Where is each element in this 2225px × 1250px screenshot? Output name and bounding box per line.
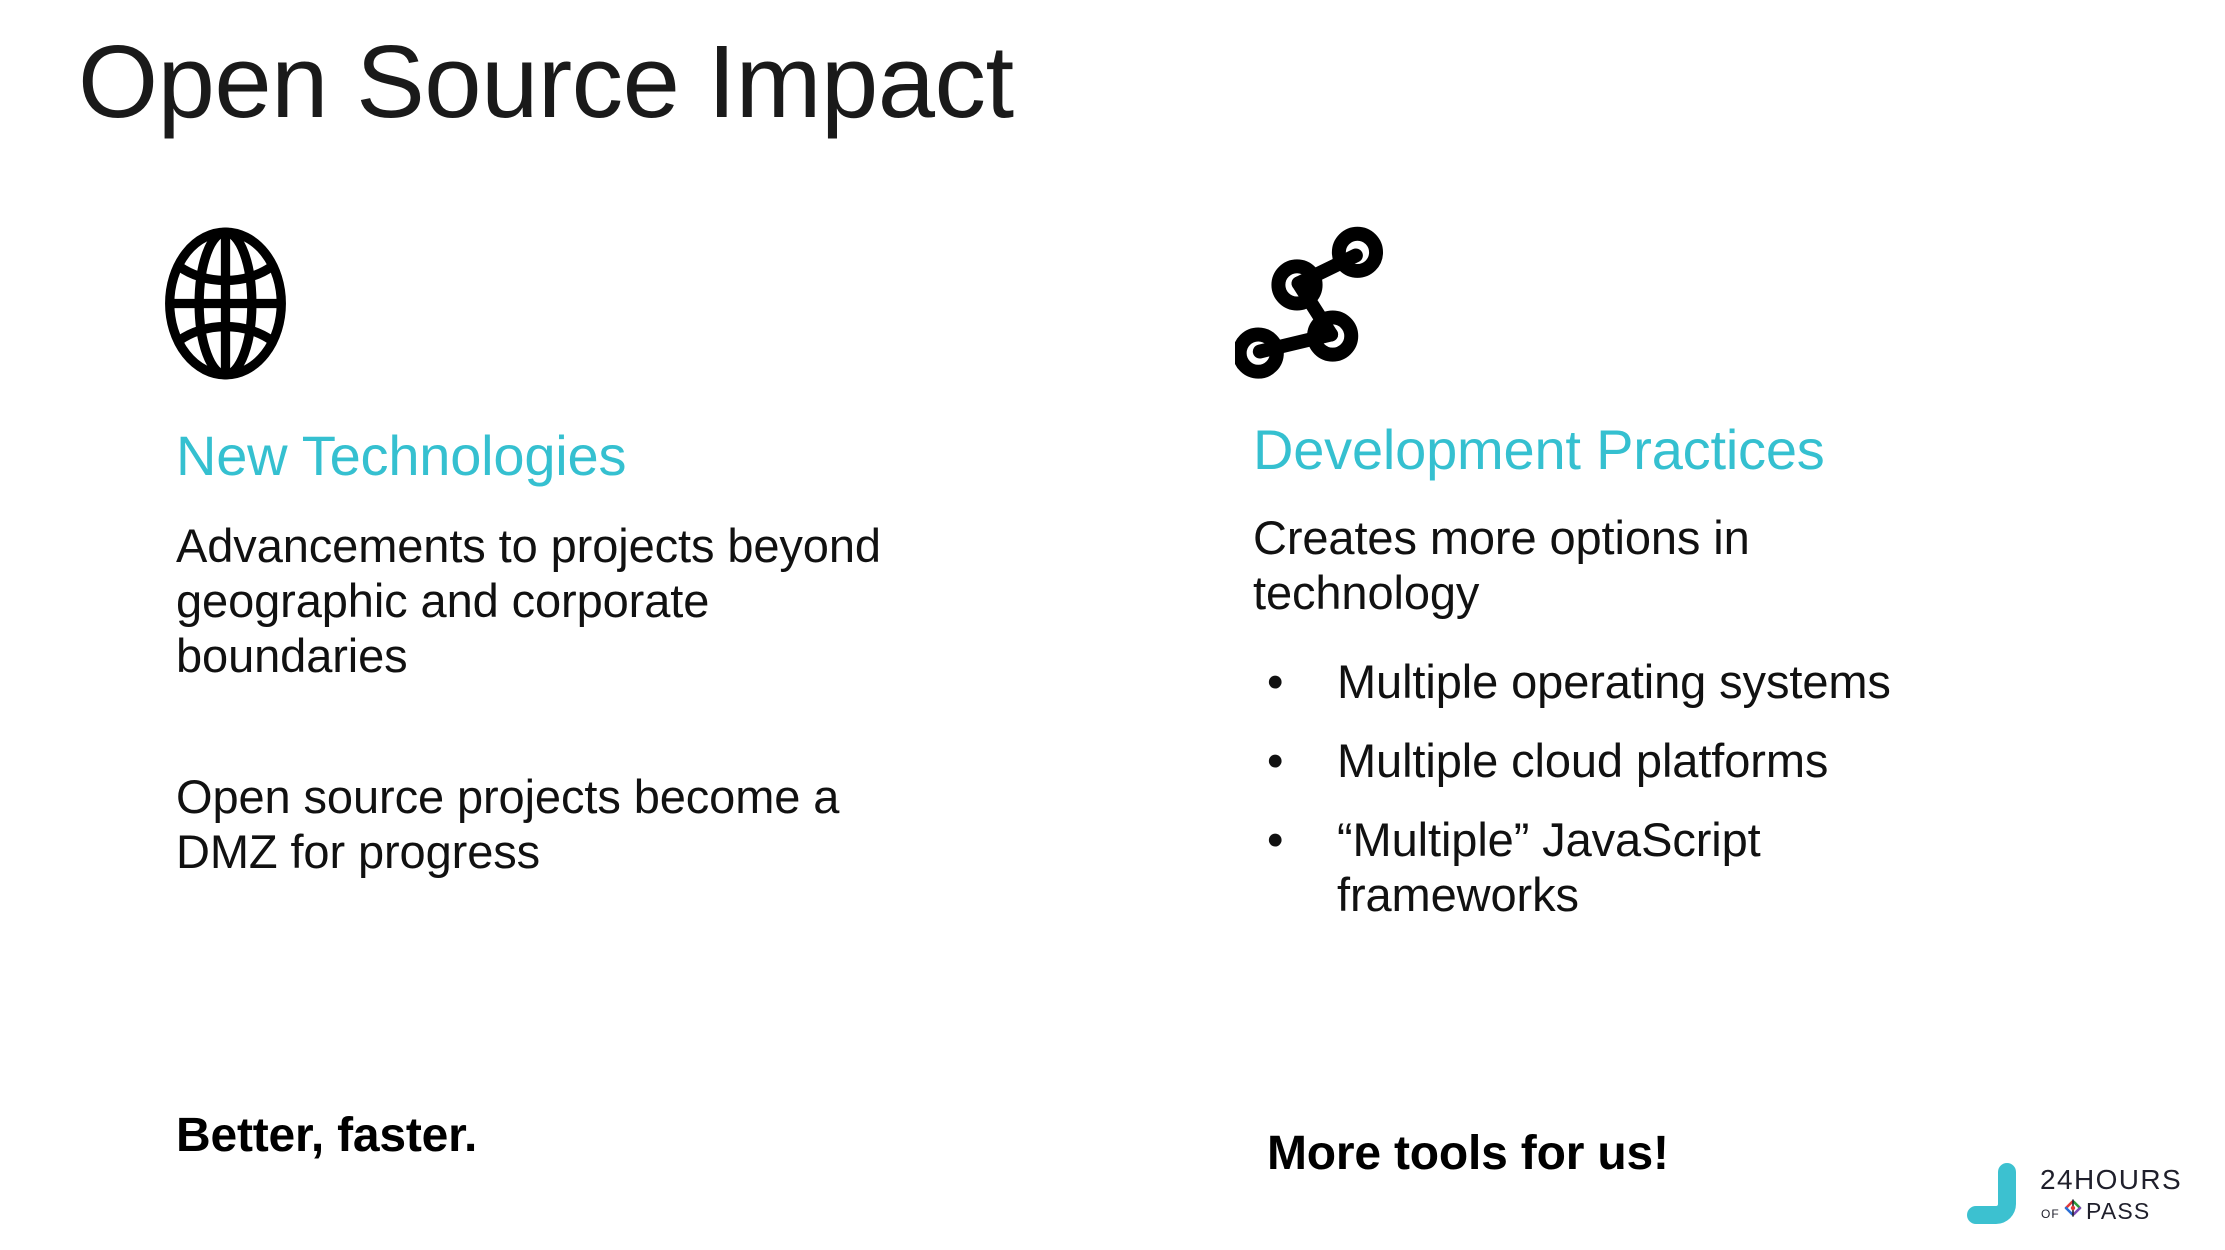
list-item-label: “Multiple” JavaScript frameworks [1337,813,1761,921]
bullet-marker-icon: • [1267,655,1283,710]
network-share-icon [1235,226,1390,381]
logo-line2-prefix: OF [2041,1207,2060,1221]
bullet-marker-icon: • [1267,734,1283,789]
globe-icon [148,226,303,381]
list-item-label: Multiple operating systems [1337,655,1891,708]
paragraph-spacer [148,684,1158,770]
list-item: • Multiple operating systems [1253,655,1957,710]
conclusion-text-left: Better, faster. [176,1108,477,1163]
pass-starburst-icon [2066,1200,2080,1216]
list-item: • “Multiple” JavaScript frameworks [1253,813,1957,923]
content-column-left: New Technologies Advancements to project… [148,226,1158,880]
24-hours-of-pass-logo: 24HOURS OF PASS [1962,1155,2208,1237]
conclusion-text-right: More tools for us! [1267,1126,1669,1181]
column-heading-development-practices: Development Practices [1253,419,2195,481]
list-item-label: Multiple cloud platforms [1337,734,1828,787]
body-paragraph: Open source projects become a DMZ for pr… [176,770,946,880]
body-paragraph: Advancements to projects beyond geograph… [176,519,946,684]
bullet-marker-icon: • [1267,813,1283,868]
list-item: • Multiple cloud platforms [1253,734,1957,789]
logo-line2-text: PASS [2086,1198,2150,1224]
slide-canvas: Open Source Impact New Technologies Adva… [0,0,2225,1250]
column-heading-new-technologies: New Technologies [176,425,1158,487]
logo-j-mark [1967,1163,2016,1224]
body-paragraph: Creates more options in technology [1253,511,1913,621]
logo-line1: 24HOURS [2040,1164,2182,1195]
bullet-list: • Multiple operating systems • Multiple … [1253,655,2195,923]
page-title: Open Source Impact [78,26,1678,137]
content-column-right: Development Practices Creates more optio… [1235,226,2195,923]
